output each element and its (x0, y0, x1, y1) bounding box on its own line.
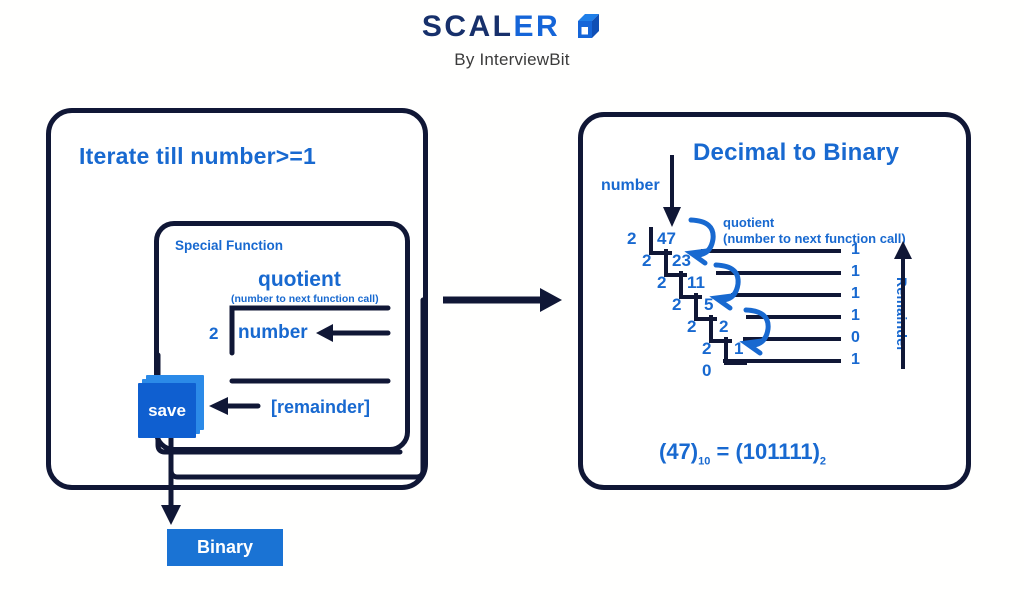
brand-tagline: By InterviewBit (0, 50, 1024, 70)
brand-word-part1: SCAL (422, 10, 514, 43)
ladder-value-1: 23 (672, 251, 691, 271)
connector-arrow-right-icon (443, 288, 562, 312)
diagram-canvas: SCALER By InterviewBit Iterate till numb… (0, 0, 1024, 607)
result-decimal: (47) (659, 439, 698, 464)
brand-word-part2: ER (513, 10, 560, 43)
save-stack-icon[interactable]: save (138, 375, 204, 438)
ladder-remainder-4: 1 (851, 307, 860, 325)
result-binary: (101111) (735, 439, 819, 464)
result-decimal-base: 10 (698, 455, 710, 467)
ladder-divisor-3: 2 (672, 295, 681, 315)
ladder-divisor-5: 2 (702, 339, 711, 359)
save-layer-front: save (138, 383, 196, 438)
ladder-divisor-1: 2 (642, 251, 651, 271)
ladder-value-6: 0 (702, 361, 711, 381)
brand-wordmark: SCALER (422, 10, 560, 44)
brand-logo-row: SCALER (422, 10, 602, 44)
left-panel-title: Iterate till number>=1 (79, 143, 316, 170)
special-function-title: Special Function (175, 238, 283, 253)
ladder-divisor-0: 2 (627, 229, 636, 249)
right-panel-decimal-to-binary: Decimal to Binary number quotient (numbe… (578, 112, 971, 490)
result-equals: = (717, 439, 730, 464)
ladder-divisor-4: 2 (687, 317, 696, 337)
ladder-remainder-5: 0 (851, 329, 860, 347)
brand-header: SCALER By InterviewBit (0, 10, 1024, 70)
divisor-value: 2 (209, 324, 218, 344)
ladder-remainder-2: 1 (851, 263, 860, 281)
result-binary-base: 2 (820, 455, 826, 467)
number-input-down-arrow-icon (663, 155, 681, 227)
ladder-remainder-6: 1 (851, 351, 860, 369)
ladder-remainder-1: 1 (851, 241, 860, 259)
ladder-divisor-2: 2 (657, 273, 666, 293)
dividend-label: number (238, 322, 308, 344)
ladder-value-5: 1 (734, 339, 743, 359)
ladder-remainder-3: 1 (851, 285, 860, 303)
remainder-label: [remainder] (271, 397, 370, 418)
ladder-value-3: 5 (704, 295, 713, 315)
binary-output-chip[interactable]: Binary (167, 529, 283, 566)
ladder-value-0: 47 (657, 229, 676, 249)
cube-logo-icon (572, 12, 602, 42)
result-equation: (47)10 = (101111)2 (659, 439, 826, 467)
quotient-label: quotient (258, 268, 341, 292)
ladder-value-4: 2 (719, 317, 728, 337)
quotient-sublabel: (number to next function call) (231, 293, 379, 305)
ladder-value-2: 11 (687, 273, 705, 293)
remainder-axis-up-arrow-icon (894, 241, 912, 369)
